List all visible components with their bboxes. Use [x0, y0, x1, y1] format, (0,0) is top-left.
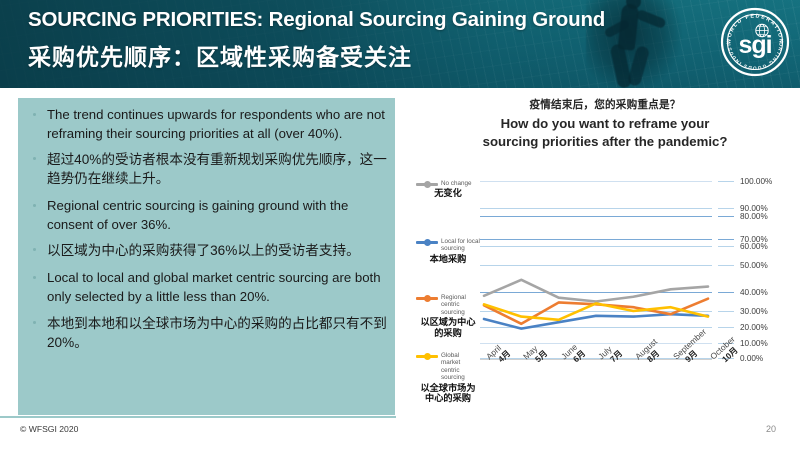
legend-label-english: Regional centric sourcing: [441, 294, 480, 316]
legend-item-2: Regional centric sourcing以区域为中心的采购: [416, 294, 480, 338]
y-axis-tick: [718, 327, 734, 328]
y-axis-tick: [718, 311, 734, 312]
legend-label-chinese: 无变化: [416, 188, 480, 199]
legend-swatch-icon: [416, 183, 438, 186]
y-axis-tick: [718, 239, 734, 240]
svg-text:sgi: sgi: [738, 31, 771, 59]
y-axis-tick: [718, 265, 734, 266]
page-title-chinese: 采购优先顺序：区域性采购备受关注: [28, 38, 412, 72]
legend-label-chinese: 本地采购: [416, 254, 480, 265]
y-axis-tick: [718, 181, 734, 182]
legend-swatch-icon: [416, 355, 438, 358]
legend-label-english: Local for local sourcing: [441, 238, 480, 253]
legend-swatch-icon: [416, 241, 438, 244]
legend-swatch-icon: [416, 297, 438, 300]
y-axis-tick-label: 20.00%: [740, 323, 768, 332]
list-item: Regional centric sourcing is gaining gro…: [28, 197, 388, 234]
legend-item-0: No change无变化: [416, 180, 480, 199]
y-axis-tick-label: 80.00%: [740, 212, 768, 221]
y-axis-tick-label: 0.00%: [740, 354, 763, 363]
y-axis-tick-label: 100.00%: [740, 177, 772, 186]
chart-title-english-line2: sourcing priorities after the pandemic?: [420, 133, 790, 151]
chart-series-lines: [480, 178, 712, 360]
legend-marker-icon: [424, 295, 431, 302]
copyright-text: © WFSGI 2020: [20, 424, 78, 434]
y-axis-tick-label: 50.00%: [740, 261, 768, 270]
chart-legend: No change无变化Local for local sourcing本地采购…: [416, 176, 480, 376]
list-item: The trend continues upwards for responde…: [28, 106, 388, 143]
chart-title-chinese: 疫情结束后，您的采购重点是？: [420, 98, 790, 113]
chart-title: 疫情结束后，您的采购重点是？ How do you want to refram…: [420, 98, 790, 151]
y-axis-tick: [718, 246, 734, 247]
list-item: Local to local and global market centric…: [28, 269, 388, 306]
insights-bullet-list: The trend continues upwards for responde…: [28, 106, 388, 359]
y-axis-tick-label: 30.00%: [740, 307, 768, 316]
y-axis-tick-label: 10.00%: [740, 339, 768, 348]
chart-title-english-line1: How do you want to reframe your: [420, 115, 790, 133]
banner-divider: [0, 88, 800, 91]
legend-marker-icon: [424, 181, 431, 188]
legend-label-chinese: 以区域为中心的采购: [416, 317, 480, 338]
y-axis-tick: [718, 292, 734, 293]
list-item: 本地到本地和以全球市场为中心的采购的占比都只有不到20%。: [28, 314, 388, 352]
insights-panel: The trend continues upwards for responde…: [18, 98, 395, 415]
slide-root: SOURCING PRIORITIES: Regional Sourcing G…: [0, 0, 800, 450]
wfsgi-logo: WORLD FEDERATION SPORTING GOODS INDUSTRY…: [718, 5, 792, 79]
page-number: 20: [766, 424, 776, 434]
page-title-english: SOURCING PRIORITIES: Regional Sourcing G…: [28, 8, 605, 32]
legend-item-1: Local for local sourcing本地采购: [416, 238, 480, 264]
chart-x-axis-labels: April4月May5月June6月July7月August8月Septembe…: [470, 352, 740, 402]
footer-divider: [0, 416, 396, 418]
y-axis-tick: [718, 216, 734, 217]
list-item: 超过40%的受访者根本没有重新规划采购优先顺序，这一趋势仍在继续上升。: [28, 150, 388, 188]
y-axis-tick-label: 70.00%: [740, 235, 768, 244]
y-axis-tick-label: 40.00%: [740, 288, 768, 297]
chart-plot-area: [480, 178, 712, 360]
y-axis-tick-label: 90.00%: [740, 204, 768, 213]
y-axis-tick: [718, 208, 734, 209]
legend-marker-icon: [424, 239, 431, 246]
legend-marker-icon: [424, 353, 431, 360]
list-item: 以区域为中心的采购获得了36%以上的受访者支持。: [28, 241, 388, 260]
legend-label-english: No change: [441, 180, 480, 187]
series-line-0: [484, 280, 708, 302]
